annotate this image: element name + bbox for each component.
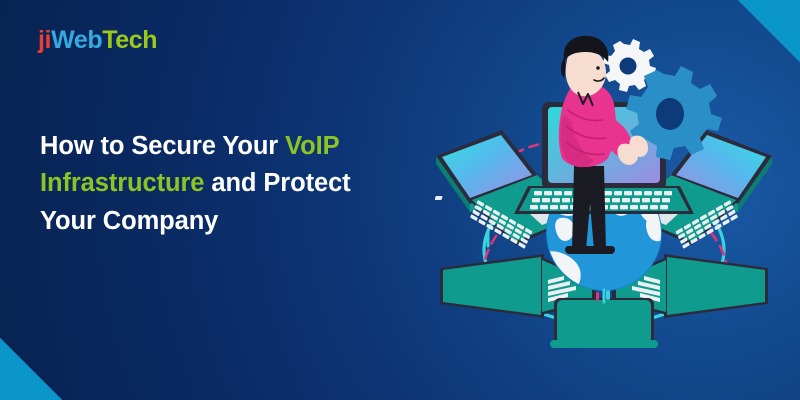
brand-logo[interactable]: jiWebTech [38,28,157,53]
connector-dot-cyan [606,290,610,300]
voip-network-illustration [418,18,790,390]
logo-text-tech: Tech [102,26,157,54]
connector-dots [596,292,599,301]
headline-segment-1: How to Secure Your [40,132,285,160]
page-title: How to Secure Your VoIP Infrastructure a… [40,128,400,240]
banner-root: jiWebTech How to Secure Your VoIP Infras… [0,0,800,400]
logo-text-ji: ji [38,26,51,54]
laptop-bottom-center [550,298,658,348]
logo-text-web: Web [51,26,102,54]
corner-accent-bottom-left [0,338,62,400]
